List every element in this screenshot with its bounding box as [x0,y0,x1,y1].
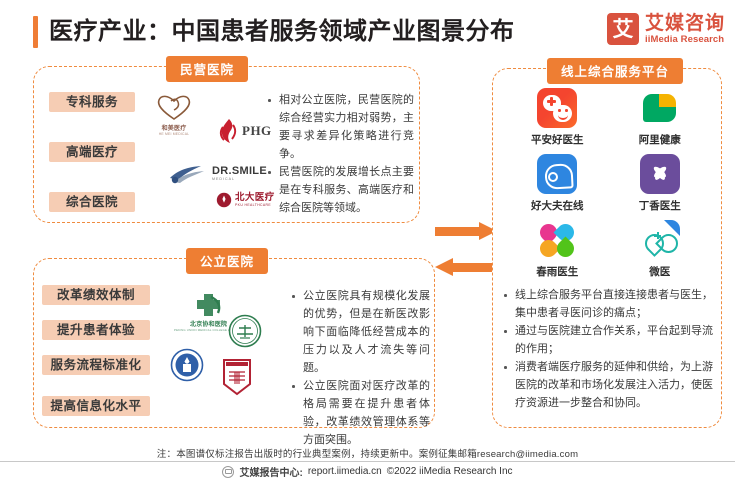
logo-label: 北京协和医院 [190,319,227,328]
app-pingan-good-doctor[interactable]: 平安好医生 [506,88,609,147]
logo-label: DR.SMILE [212,166,267,177]
hemei-heart-icon [152,92,196,122]
app-haodaifu-online[interactable]: 好大夫在线 [506,154,609,213]
weiyi-icon [640,220,680,260]
footer-center-label: 艾媒报告中心: [239,464,302,479]
pingan-good-doctor-icon [537,88,577,128]
chunyu-doctor-icon [537,220,577,260]
logo-label: 和美医疗 [162,123,187,132]
chip-premium-medical: 高端医疗 [49,142,135,162]
public-hospital-bullets: 公立医院具有规模化发展的优势，但是在新医改影响下面临降低经营成本的压力以及人才流… [288,287,430,449]
hospital-seal-blue-icon [170,348,204,382]
footer-copyright: ©2022 iiMedia Research Inc [387,466,513,477]
logo-dr-smile: DR.SMILE MEDICAL [168,162,267,186]
app-label: 丁香医生 [639,198,681,213]
footer-url[interactable]: report.iimedia.cn [308,466,382,477]
footer-divider [0,461,735,462]
app-chunyu-doctor[interactable]: 春雨医生 [506,220,609,279]
bullet-item: 消费者端医疗服务的延伸和供给，为上游医院的改革和市场化发展注入活力，使医疗资源进… [515,358,713,412]
logo-sublabel: HE MEI MEDICAL [159,132,190,136]
chip-improve-patient-experience: 提升患者体验 [42,320,150,340]
arrow-right-icon [435,222,497,240]
app-label: 好大夫在线 [531,198,584,213]
bullet-item: 民营医院的发展增长点主要是在专科服务、高端医疗和综合医院等领域。 [279,163,414,217]
phg-flame-icon [218,118,238,144]
chip-raise-informatization-level: 提高信息化水平 [42,396,150,416]
report-center-icon [222,466,234,478]
arrow-head [435,258,453,276]
ali-health-icon [640,88,680,128]
bullet-item: 公立医院面对医疗改革的格局需要在提升患者体验，改革绩效管理体系等方面突围。 [303,377,430,449]
page-title: 医疗产业：中国患者服务领域产业图景分布 [49,16,515,48]
online-platform-tag: 线上综合服务平台 [547,58,683,84]
brand-name-cn: 艾媒咨询 [645,14,725,33]
chip-general-hospital: 综合医院 [49,192,135,212]
app-grid: 平安好医生 阿里健康 好大夫在线 丁香医生 春雨医生 [506,88,711,279]
chip-standardize-service-process: 服务流程标准化 [42,355,150,375]
arrow-shaft [435,227,481,236]
slide-canvas: 医疗产业：中国患者服务领域产业图景分布 艾 艾媒咨询 iiMedia Resea… [0,0,735,478]
bullet-item: 线上综合服务平台直接连接患者与医生，集中患者寻医问诊的痛点； [515,286,713,322]
pku-seal-icon [216,192,232,208]
chip-specialty-service: 专科服务 [49,92,135,112]
app-dingxiang-doctor[interactable]: 丁香医生 [609,154,712,213]
app-ali-health[interactable]: 阿里健康 [609,88,712,147]
private-hospital-tag: 民营医院 [166,56,248,82]
app-label: 阿里健康 [639,132,681,147]
app-label: 微医 [649,264,670,279]
dingxiang-doctor-icon [640,154,680,194]
haodaifu-online-icon [537,154,577,194]
brand-logo: 艾 艾媒咨询 iiMedia Research [607,13,725,45]
arrow-left-icon [435,258,497,276]
title-accent-bar [33,16,38,48]
app-label: 平安好医生 [531,132,584,147]
footer-note: 注：本图谱仅标注报告出版时的行业典型案例，持续更新中。案例征集邮箱researc… [0,446,735,460]
bullet-item: 公立医院具有规模化发展的优势，但是在新医改影响下面临降低经营成本的压力以及人才流… [303,287,430,377]
bullet-item: 相对公立医院，民营医院的综合经营实力相对弱势，主要寻求差异化策略进行竞争。 [279,91,414,163]
footer-bar: 艾媒报告中心: report.iimedia.cn ©2022 iiMedia … [0,464,735,479]
private-hospital-bullets: 相对公立医院，民营医院的综合经营实力相对弱势，主要寻求差异化策略进行竞争。 民营… [264,91,414,217]
arrow-shaft [451,263,497,272]
header: 医疗产业：中国患者服务领域产业图景分布 艾 艾媒咨询 iiMedia Resea… [0,0,735,52]
public-hospital-tag: 公立医院 [186,248,268,274]
logo-hospital-seal-green [228,314,262,348]
app-label: 春雨医生 [536,264,578,279]
hospital-seal-green-icon [228,314,262,348]
pumch-cross-icon [191,292,227,318]
brand-text: 艾媒咨询 iiMedia Research [645,14,725,45]
hospital-shield-red-icon [222,358,252,396]
brand-mark-icon: 艾 [607,13,639,45]
logo-sublabel: MEDICAL [212,178,267,182]
chip-reform-performance-system: 改革绩效体制 [42,285,150,305]
online-platform-bullets: 线上综合服务平台直接连接患者与医生，集中患者寻医问诊的痛点； 通过与医院建立合作… [500,286,713,412]
logo-hemei-medical: 和美医疗 HE MEI MEDICAL [152,92,196,136]
brand-name-en: iiMedia Research [645,35,725,45]
bullet-item: 通过与医院建立合作关系，平台起到导流的作用； [515,322,713,358]
logo-hospital-seal-blue [170,348,204,382]
app-weiyi[interactable]: 微医 [609,220,712,279]
logo-hospital-shield-red [222,358,252,396]
dr-smile-wings-icon [168,162,208,186]
